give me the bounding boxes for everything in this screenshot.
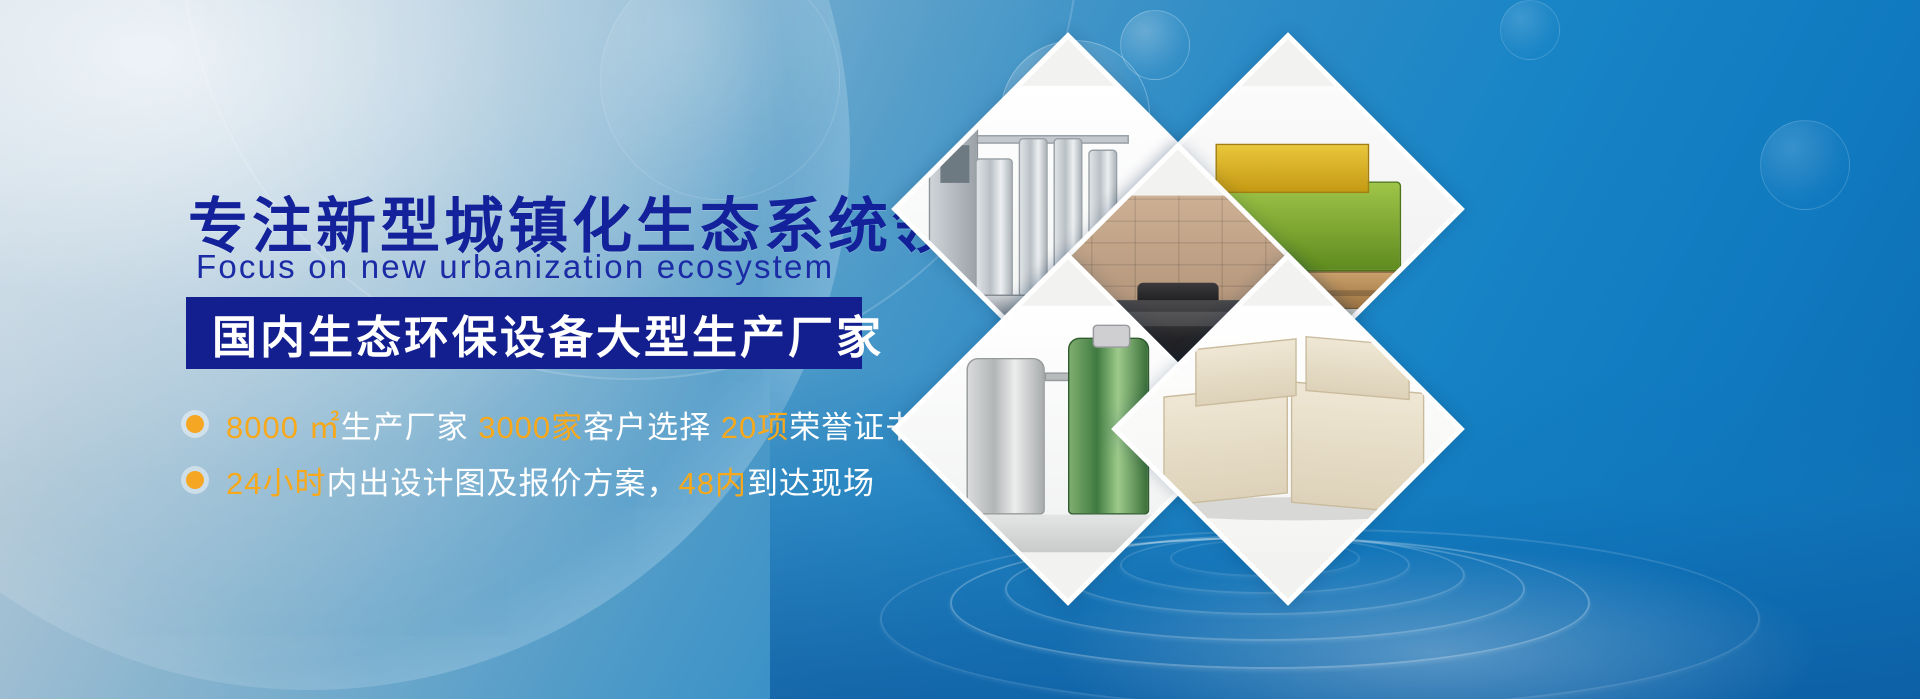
bullet-2-seg-3: 到达现场: [747, 466, 875, 501]
list-item: 8000 ㎡生产厂家 3000家客户选择 20项荣誉证书: [186, 400, 917, 448]
bullet-text-2: 24小时内出设计图及报价方案，48内到达现场: [226, 458, 875, 503]
bullet-1-seg-0: 8000 ㎡: [226, 410, 341, 445]
bubble-icon: [1760, 120, 1850, 210]
banner-highlight-bar-text: 国内生态环保设备大型生产厂家: [186, 301, 884, 366]
bullet-1-seg-2: 3000家: [478, 410, 583, 445]
banner-subheadline: Focus on new urbanization ecosystem: [196, 248, 834, 286]
bubble-icon: [1500, 0, 1560, 60]
bullet-dot-icon: [186, 415, 204, 433]
bullet-2-seg-0: 24小时: [226, 466, 326, 501]
bullet-1-seg-4: 20项: [721, 410, 789, 445]
bullet-dot-icon: [186, 471, 204, 489]
bullet-2-seg-2: 48内: [678, 466, 746, 501]
banner-bullet-list: 8000 ㎡生产厂家 3000家客户选择 20项荣誉证书 24小时内出设计图及报…: [186, 400, 917, 512]
bullet-2-seg-1: 内出设计图及报价方案，: [326, 466, 678, 501]
bullet-text-1: 8000 ㎡生产厂家 3000家客户选择 20项荣誉证书: [226, 402, 917, 447]
banner-highlight-bar: 国内生态环保设备大型生产厂家: [186, 297, 862, 369]
banner-copy: 专注新型城镇化生态系统领域 Focus on new urbanization …: [0, 0, 930, 699]
bullet-1-seg-1: 生产厂家: [341, 410, 479, 445]
product-image-gallery: [905, 42, 1325, 542]
list-item: 24小时内出设计图及报价方案，48内到达现场: [186, 456, 917, 504]
promo-banner: 专注新型城镇化生态系统领域 Focus on new urbanization …: [0, 0, 1920, 699]
bullet-1-seg-3: 客户选择: [583, 410, 721, 445]
